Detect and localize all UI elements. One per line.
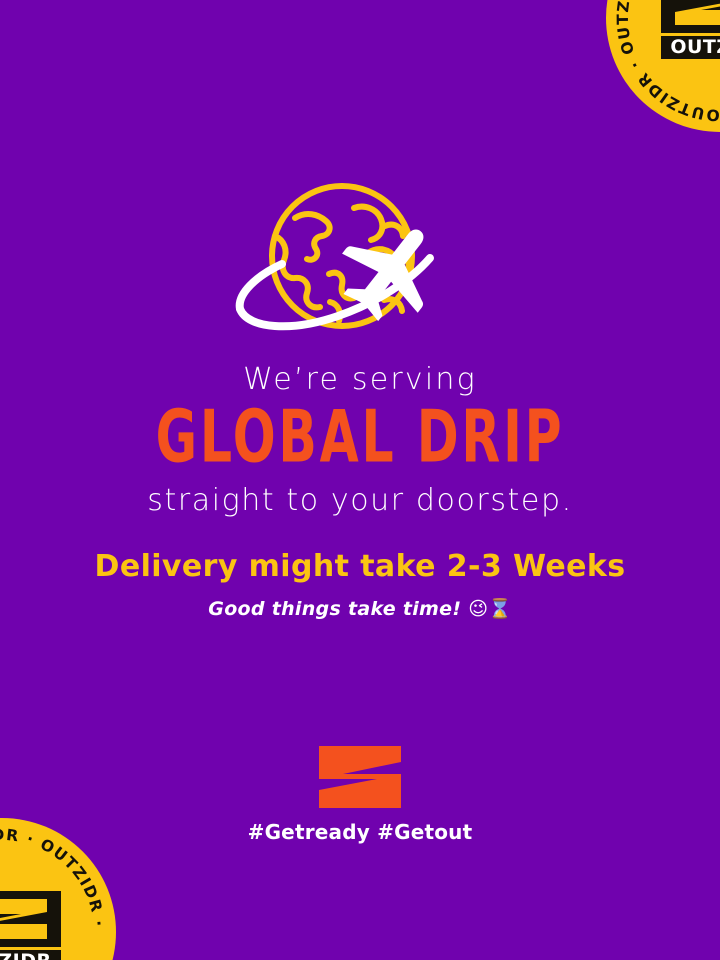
brand-logo-z	[319, 746, 401, 808]
globe-icon	[234, 178, 486, 350]
hashtag-text: #Getready #Getout	[0, 820, 720, 844]
badge-core-bottom-left: OUTZIDR	[0, 891, 61, 960]
subline-text: straight to your doorstep.	[0, 482, 720, 520]
badge-z-mark-top-right	[661, 0, 720, 33]
z-logo-icon	[319, 746, 401, 808]
delivery-time-text: Delivery might take 2-3 Weeks	[0, 548, 720, 586]
globe-plane-illustration	[234, 178, 486, 350]
brand-badge-top-right: OUTZIDR · OUTZIDR · OUTZIDR · OUTZIDR · …	[606, 0, 720, 132]
reassurance-text: Good things take time!	[208, 598, 461, 620]
badge-wordmark-bottom-left: OUTZIDR	[0, 950, 61, 960]
headline-block: We’re serving GLOBAL DRIP straight to yo…	[0, 362, 720, 520]
wink-hourglass-emoji: 😉⌛	[468, 598, 511, 620]
badge-core-top-right: OUTZIDR	[661, 0, 720, 59]
badge-z-mark-bottom-left	[0, 891, 61, 947]
z-glyph-icon	[0, 891, 61, 947]
page-title: GLOBAL DRIP	[29, 400, 691, 476]
footer-block: #Getready #Getout	[0, 746, 720, 844]
eyebrow-text: We’re serving	[0, 362, 720, 398]
z-glyph-icon	[661, 0, 720, 33]
delivery-notice-block: Delivery might take 2-3 Weeks Good thing…	[0, 548, 720, 622]
poster-canvas: OUTZIDR · OUTZIDR · OUTZIDR · OUTZIDR · …	[0, 0, 720, 960]
badge-wordmark-top-right: OUTZIDR	[661, 36, 720, 59]
reassurance-line: Good things take time! 😉⌛	[0, 596, 720, 622]
